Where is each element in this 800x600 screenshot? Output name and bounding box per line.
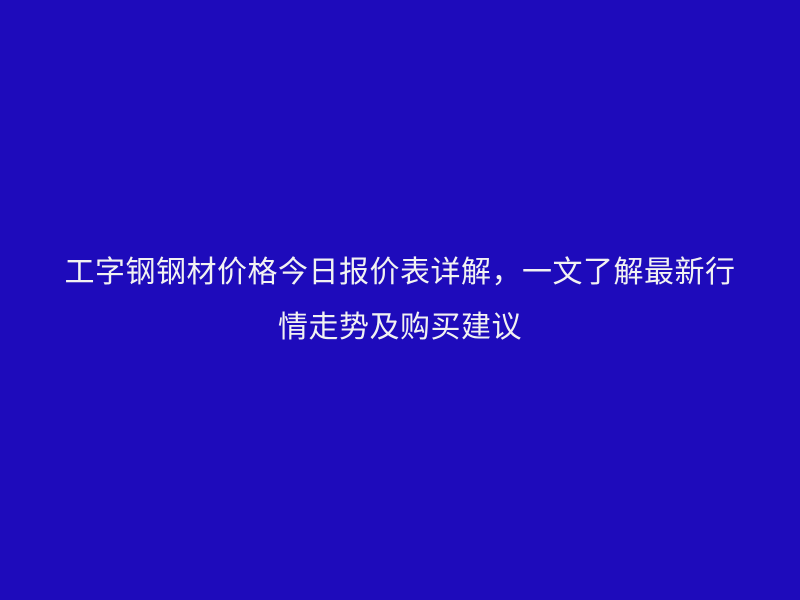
cover-card: 工字钢钢材价格今日报价表详解，一文了解最新行情走势及购买建议 (0, 0, 800, 600)
title-block: 工字钢钢材价格今日报价表详解，一文了解最新行情走势及购买建议 (50, 245, 750, 355)
page-title: 工字钢钢材价格今日报价表详解，一文了解最新行情走势及购买建议 (50, 245, 750, 355)
